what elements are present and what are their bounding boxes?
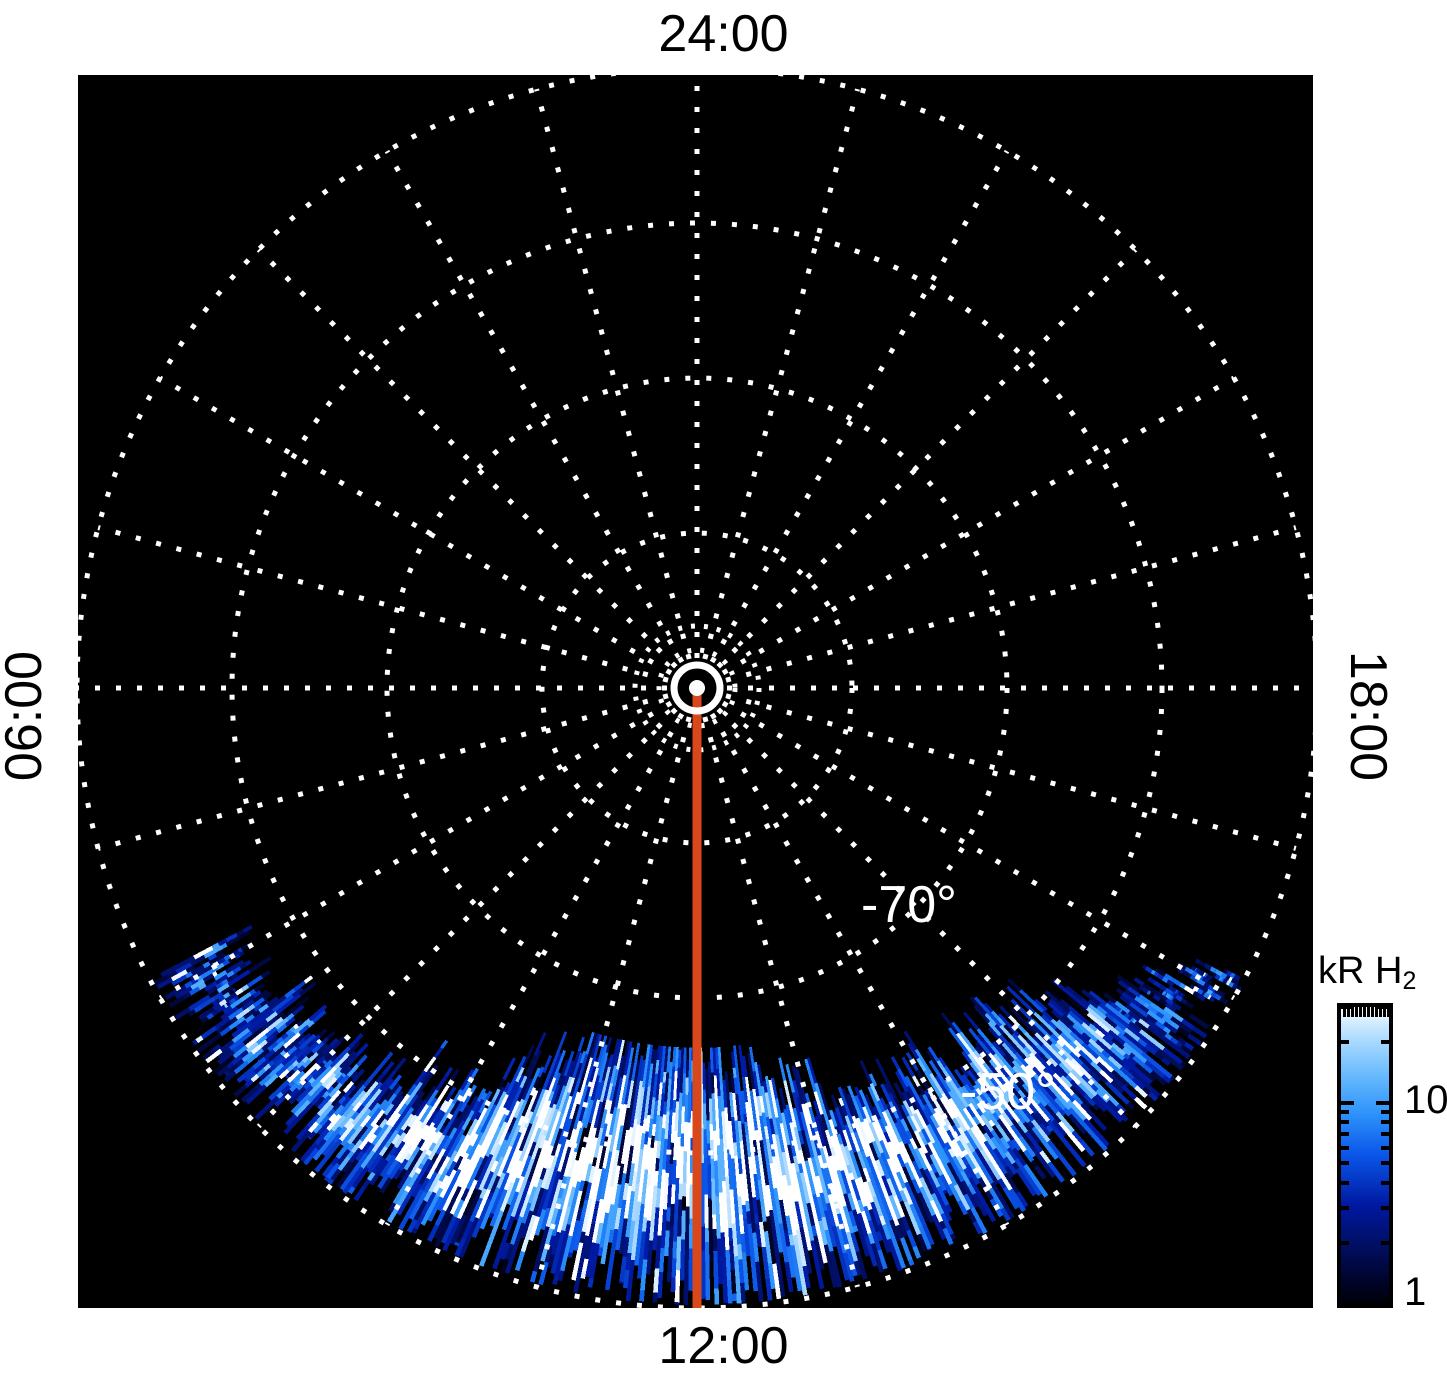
aurora-cell [675,1302,680,1304]
colorbar-gradient[interactable] [1337,1003,1393,1308]
colorbar-top-tick-6 [1367,1007,1370,1017]
colorbar-tick-2 [1341,1241,1349,1245]
colorbar-tick-4 [1341,1181,1349,1185]
colorbar-tick-10 [1376,1101,1389,1105]
aurora-cell [709,1124,713,1140]
colorbar-tick-20 [1341,1040,1349,1044]
axis-label-1200: 12:00 [0,1320,1447,1372]
colorbar-title: kR H2 [1318,950,1416,996]
colorbar-tick-3 [1381,1206,1389,1210]
latitude-label-70: -70° [861,876,957,934]
colorbar-top-tick-8 [1375,1007,1378,1017]
colorbar-tick-3 [1341,1206,1349,1210]
colorbar-tick-label-10: 10 [1404,1078,1447,1123]
colorbar-title-text: kR H [1318,950,1402,992]
aurora-cell [732,1294,737,1302]
colorbar-tick-2 [1381,1241,1389,1245]
aurora-cell [678,1184,682,1200]
colorbar-tick-8 [1341,1120,1349,1124]
aurora-cell [703,1090,706,1104]
aurora-cell [712,1215,717,1230]
axis-label-1800: 18:00 [1342,636,1394,796]
colorbar-tick-10 [1341,1101,1354,1105]
colorbar-top-tick-0 [1343,1007,1346,1017]
colorbar-tick-9 [1381,1110,1389,1114]
colorbar-top-tick-11 [1387,1007,1390,1017]
polar-aurora-figure: -70° -50° 24:00 12:00 06:00 18:00 kR H2 … [0,0,1447,1384]
latitude-label-50: -50° [960,1063,1056,1121]
colorbar-tick-5 [1341,1161,1349,1165]
colorbar-top-tick-5 [1363,1007,1366,1017]
aurora-cell [703,1129,707,1158]
colorbar-tick-7 [1381,1132,1389,1136]
axis-label-0600: 06:00 [0,636,50,796]
colorbar-top-tick-3 [1355,1007,1358,1017]
aurora-cell [705,1228,709,1242]
aurora-cell [712,1229,717,1251]
colorbar-tick-6 [1381,1146,1389,1150]
axis-label-2400: 24:00 [0,8,1447,60]
pole-marker-dot [689,680,705,696]
colorbar-top-tick-4 [1359,1007,1362,1017]
polar-plot-canvas: -70° -50° [78,75,1313,1308]
aurora-cell [652,1293,657,1303]
colorbar-top-tick-1 [1347,1007,1350,1017]
colorbar-tick-7 [1341,1132,1349,1136]
polar-plot-panel[interactable]: -70° -50° [78,75,1313,1308]
colorbar-tick-4 [1381,1181,1389,1185]
aurora-cell [714,1288,719,1304]
colorbar-tick-6 [1341,1146,1349,1150]
colorbar-tick-5 [1381,1161,1389,1165]
aurora-cell [682,1182,686,1196]
aurora-cell [703,1104,707,1130]
colorbar-tick-20 [1381,1040,1389,1044]
aurora-cell [682,1196,686,1210]
colorbar-top-tick-10 [1383,1007,1386,1017]
colorbar-tick-label-1: 1 [1404,1270,1426,1315]
aurora-cell [701,1250,706,1299]
colorbar-top-tick-9 [1379,1007,1382,1017]
aurora-cell [666,1221,671,1231]
colorbar-top-tick-7 [1371,1007,1374,1017]
colorbar-tick-9 [1341,1110,1349,1114]
colorbar-title-subscript: 2 [1402,967,1416,995]
colorbar-tick-8 [1381,1120,1389,1124]
colorbar-top-tick-2 [1351,1007,1354,1017]
aurora-cell [680,1133,684,1146]
aurora-cell [704,1194,709,1228]
